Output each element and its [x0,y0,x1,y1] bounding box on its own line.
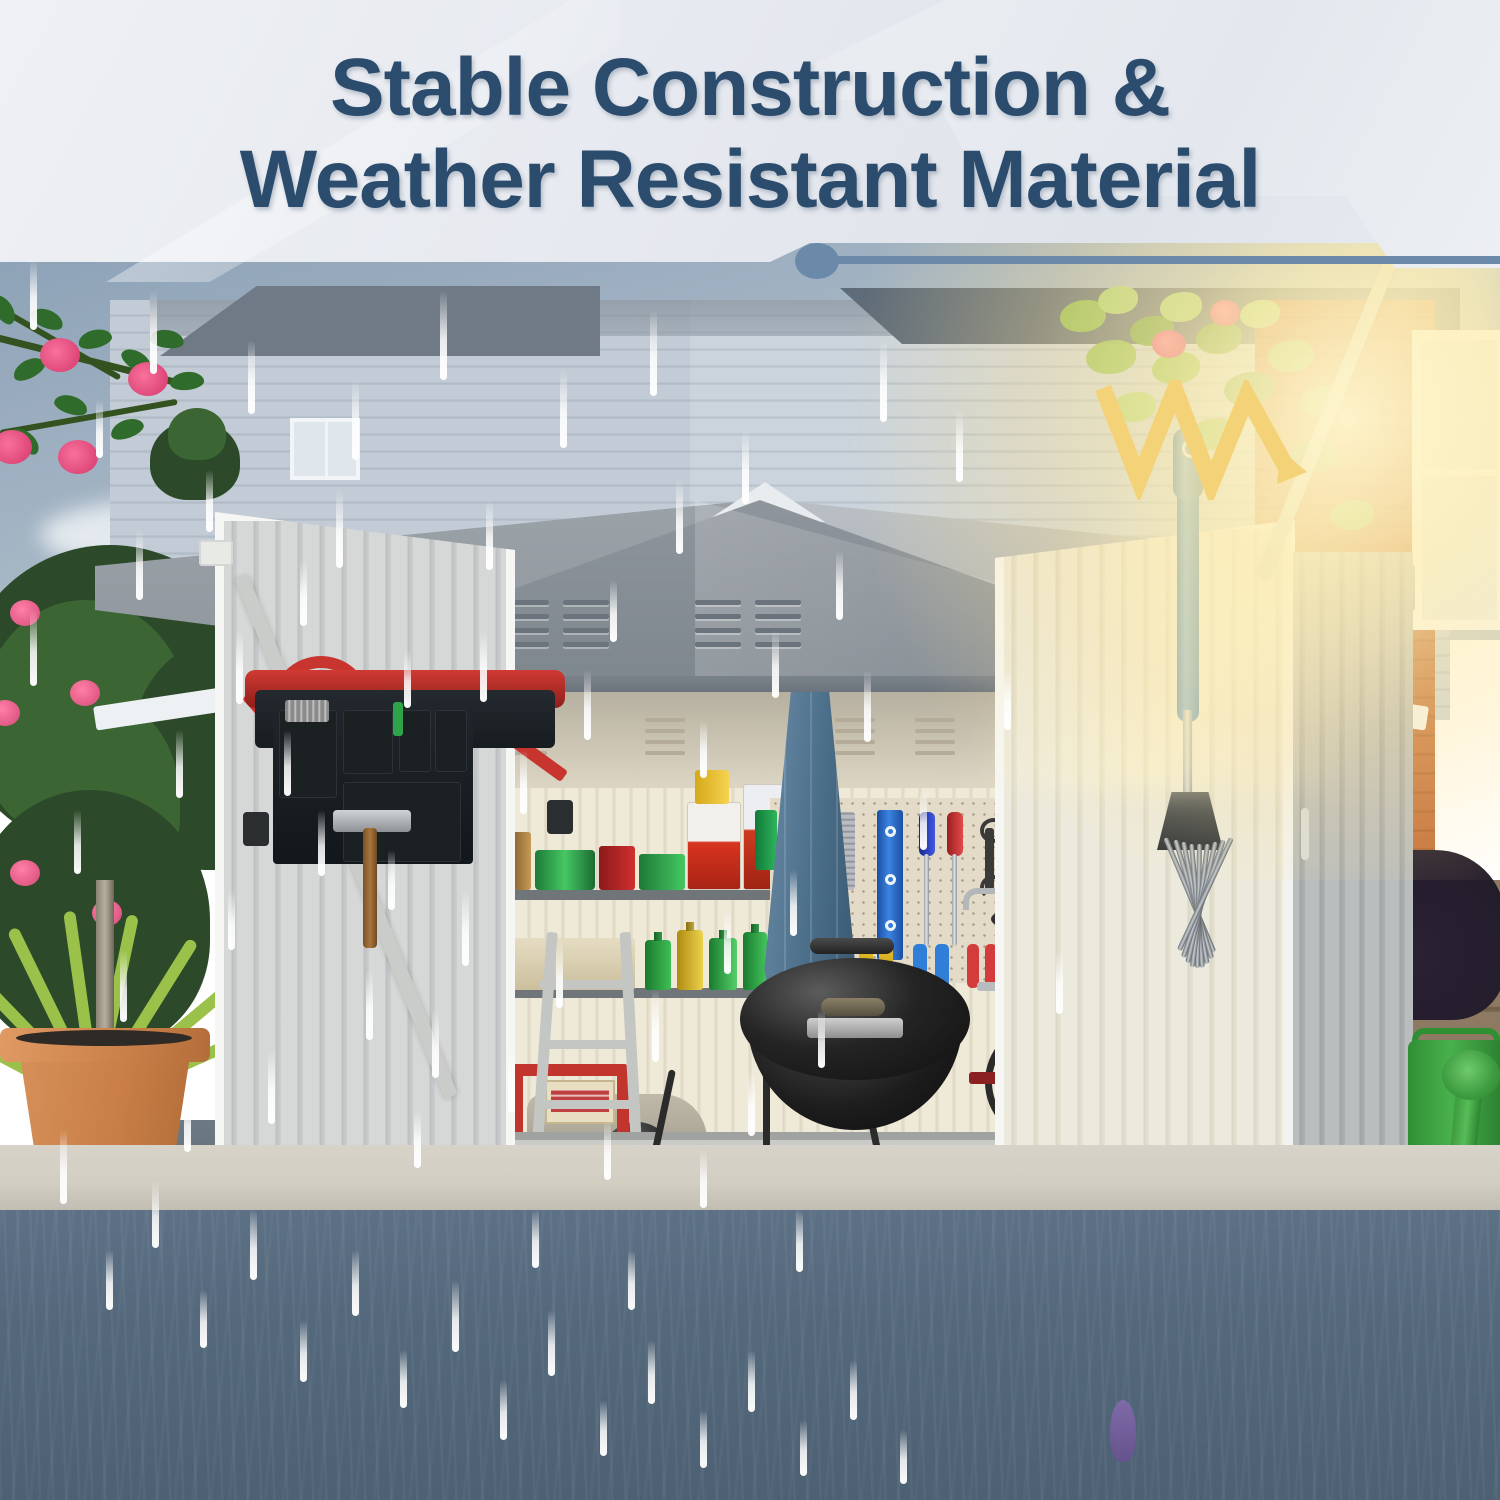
bag-green-tool [393,702,403,736]
vent-louvers-right-2 [755,600,801,647]
header-banner: Stable Construction & Weather Resistant … [0,0,1500,282]
bag-buckle-right [547,800,573,834]
level-bubble [885,874,896,885]
title-line-2: Weather Resistant Material [0,134,1500,226]
left-door-hinge-top[interactable] [199,540,233,566]
vent-louvers-right [695,600,741,647]
screwdriver-blue-shaft [924,854,929,946]
screwdriver-red-shaft [952,854,957,946]
wrench [985,828,994,890]
header-accent-dot [795,243,839,279]
green-tool [755,810,777,870]
screwdriver-red-handle [947,812,963,856]
page-title: Stable Construction & Weather Resistant … [0,42,1500,226]
interior-vent [645,718,685,755]
heat-arrow-icon [1095,380,1335,500]
level-bubble [885,920,896,931]
bottom-band: Premium Color Coated Steel Sheets › Weat… [0,1210,1500,1500]
hammer-handle [363,828,377,948]
product-feature-poster: Stable Construction & Weather Resistant … [0,0,1500,1500]
bag-tools-cluster [285,700,329,722]
red-plier [967,944,979,988]
interior-vent [835,718,875,755]
header-accent-line [828,256,1500,264]
vent-louvers-left-2 [563,600,609,647]
pink-blossom [40,338,80,372]
screwdriver-blue-handle [919,812,935,856]
shed-door-handle[interactable] [1301,808,1309,860]
title-line-1: Stable Construction & [330,42,1170,133]
pink-blossom [58,440,98,474]
bag-buckle-left [243,812,269,846]
level-bubble [885,826,896,837]
